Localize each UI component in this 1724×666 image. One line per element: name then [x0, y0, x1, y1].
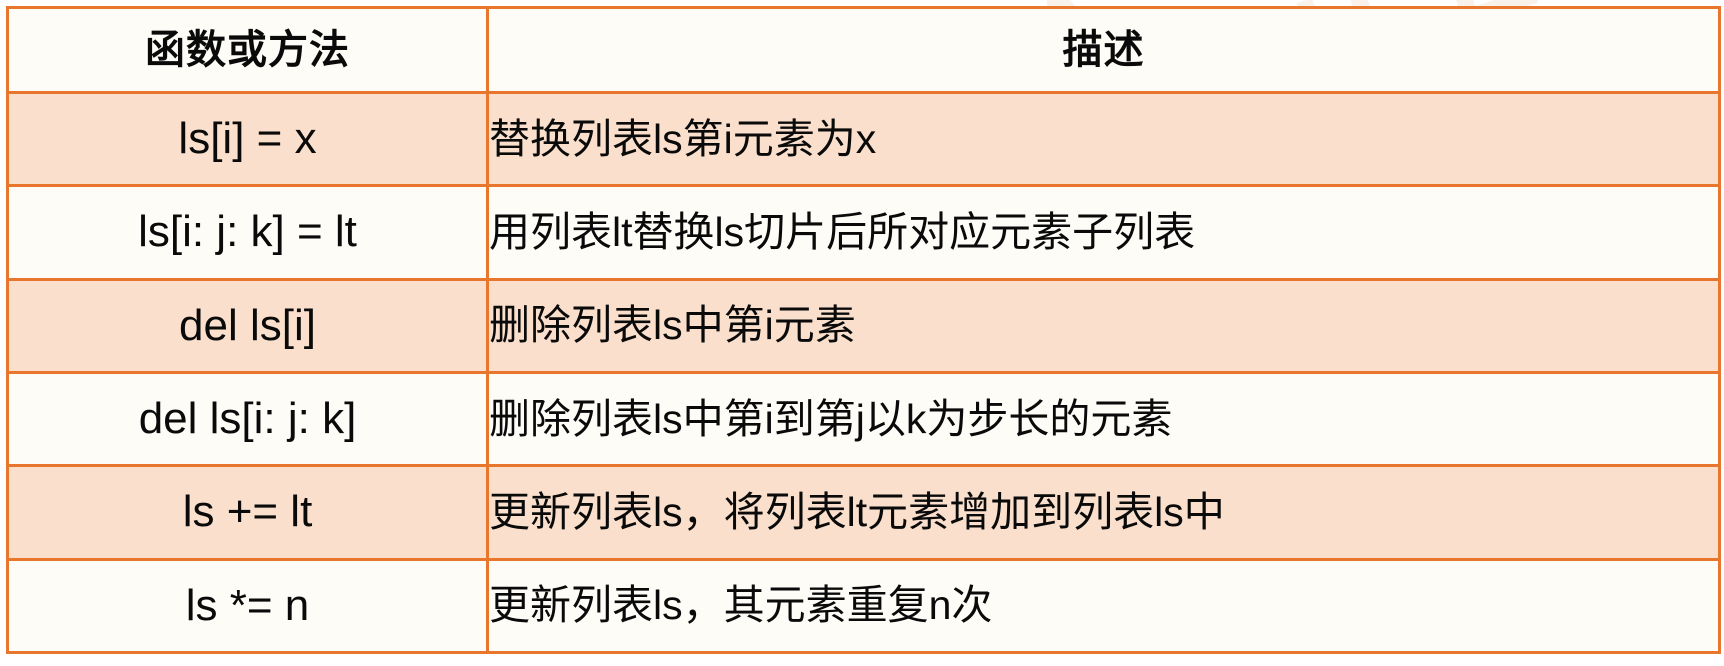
cell-signature: ls[i] = x — [8, 93, 488, 186]
table-row: ls += lt 更新列表ls，将列表lt元素增加到列表ls中 — [8, 466, 1720, 559]
table-row: del ls[i: j: k] 删除列表ls中第i到第j以k为步长的元素 — [8, 372, 1720, 465]
cell-description: 删除列表ls中第i元素 — [488, 279, 1720, 372]
table-row: ls *= n 更新列表ls，其元素重复n次 — [8, 559, 1720, 652]
table-row: ls[i: j: k] = lt 用列表lt替换ls切片后所对应元素子列表 — [8, 186, 1720, 279]
list-operations-table: 函数或方法 描述 ls[i] = x 替换列表ls第i元素为x ls[i: j:… — [6, 6, 1721, 654]
cell-description: 更新列表ls，其元素重复n次 — [488, 559, 1720, 652]
cell-description: 替换列表ls第i元素为x — [488, 93, 1720, 186]
cell-description: 删除列表ls中第i到第j以k为步长的元素 — [488, 372, 1720, 465]
cell-signature: ls[i: j: k] = lt — [8, 186, 488, 279]
cell-description: 用列表lt替换ls切片后所对应元素子列表 — [488, 186, 1720, 279]
cell-signature: ls += lt — [8, 466, 488, 559]
cell-signature: del ls[i] — [8, 279, 488, 372]
column-header-signature: 函数或方法 — [8, 8, 488, 93]
table-row: ls[i] = x 替换列表ls第i元素为x — [8, 93, 1720, 186]
column-header-description: 描述 — [488, 8, 1720, 93]
cell-signature: ls *= n — [8, 559, 488, 652]
table-container: CC BY-NC-SA 4.0 嵩天 BY-NC-SA 函数或方法 描述 ls[… — [0, 6, 1724, 666]
table-row: del ls[i] 删除列表ls中第i元素 — [8, 279, 1720, 372]
table-header-row: 函数或方法 描述 — [8, 8, 1720, 93]
cell-signature: del ls[i: j: k] — [8, 372, 488, 465]
cell-description: 更新列表ls，将列表lt元素增加到列表ls中 — [488, 466, 1720, 559]
